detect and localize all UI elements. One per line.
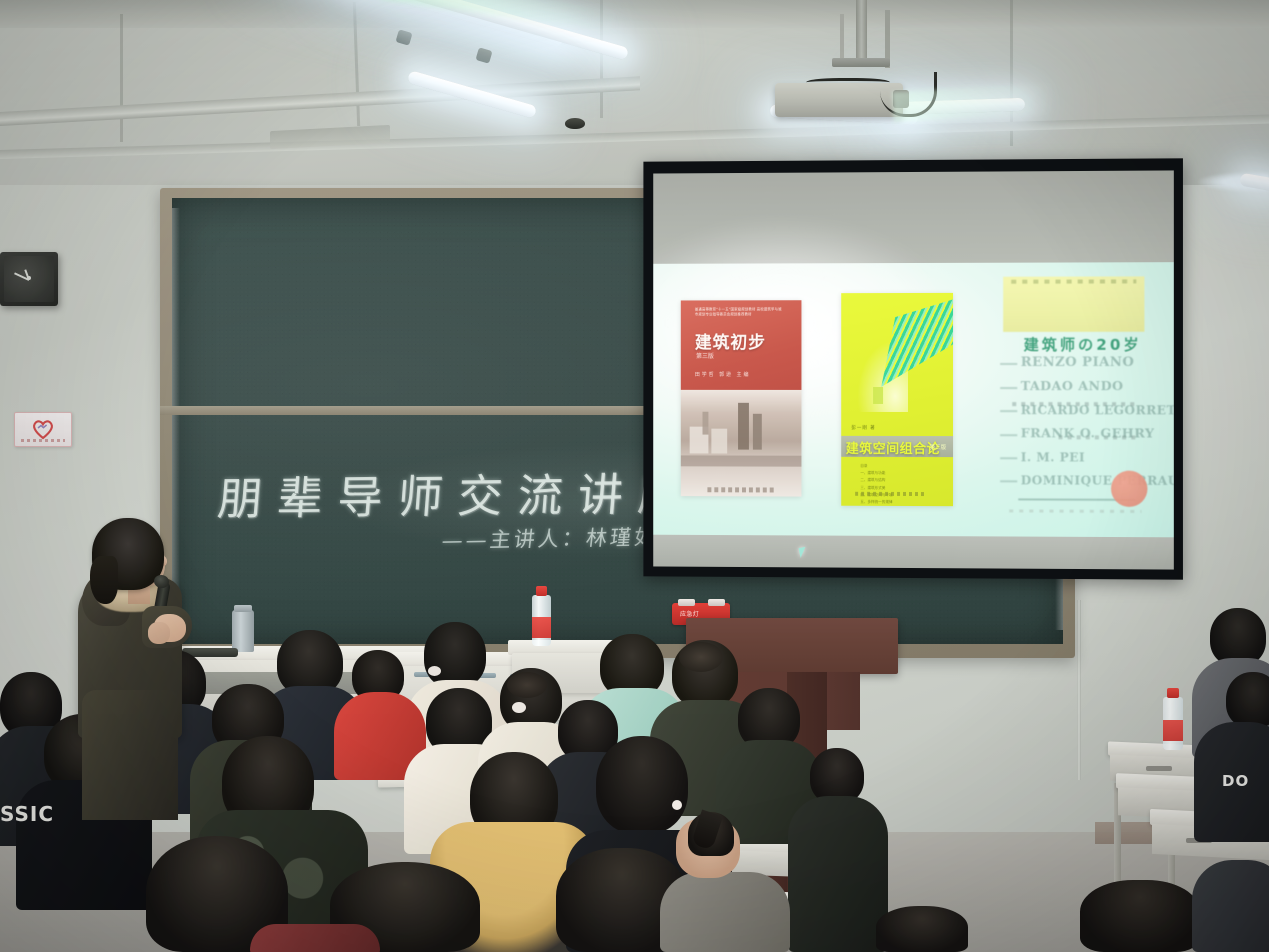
ceiling-sensor [565, 118, 585, 129]
projection-screen: 普通高等教育“十一五”国家级规划教材 高校建筑学与城市规划专业指导委员会规划推荐… [643, 158, 1183, 579]
hair-tie [672, 800, 682, 810]
book-3-name-dash [1000, 410, 1017, 412]
photo-tower [753, 414, 761, 450]
ceiling [0, 0, 1269, 28]
desktop-taskbar[interactable] [653, 535, 1174, 570]
book-3-topline [1012, 279, 1136, 283]
book-3-header-panel [1003, 276, 1144, 332]
red-box-tab [708, 599, 725, 606]
blackboard-edge-highlight [172, 208, 180, 630]
book-3-architect-name: FRANK O. GEHRY [1021, 428, 1142, 441]
jacket-text: SSIC [0, 802, 54, 826]
projector-mount-plate [832, 58, 890, 67]
book-3-name-dash [1000, 481, 1017, 483]
book-1-header-panel: 普通高等教育“十一五”国家级规划教材 高校建筑学与城市规划专业指导委员会规划推荐… [680, 300, 801, 390]
book-3-name-dash [1000, 434, 1017, 436]
presentation-slide: 普通高等教育“十一五”国家级规划教材 高校建筑学与城市规划专业指导委员会规划推荐… [653, 262, 1174, 537]
bottle-cap [1167, 688, 1178, 698]
book-2-contents: 目录一、建筑与功能二、建筑与结构三、建筑形式美四、建筑空间与环境五、多样统一的规… [860, 462, 934, 506]
thermos-lid [234, 605, 252, 612]
book-2-author: 彭一刚 著 [851, 425, 875, 431]
wall-clock [0, 252, 58, 306]
book-1-cover-photo [680, 390, 801, 496]
photo-building [702, 411, 708, 434]
hair-tie [512, 702, 526, 713]
thermos-cup [232, 610, 254, 652]
book-3-architect-name: RENZO PIANO [1021, 356, 1142, 369]
book-1-title: 建筑初步 [695, 328, 766, 353]
book-1-series-note: 普通高等教育“十一五”国家级规划教材 高校建筑学与城市规划专业指导委员会规划推荐… [695, 307, 785, 318]
book-2-vanishing-square [873, 387, 883, 404]
red-box-label: 应急灯 [680, 609, 699, 618]
book-2-contents-line: 五、多样统一的规律 [860, 499, 934, 506]
clock-face [4, 256, 54, 302]
lecture-hall-photo: 朋辈导师交流讲座 ——主讲人：林瑾如 普通高等教育“十一五”国家级规划教材 高校… [0, 0, 1269, 952]
book-2-edition: 第三版 [930, 443, 947, 451]
book-3-name-dash [1000, 363, 1017, 365]
audience-head [1226, 672, 1269, 728]
audience-head [1080, 880, 1200, 952]
book-3-architect-name: I. M. PEI [1021, 451, 1142, 464]
bottle-label [1163, 720, 1183, 741]
blackboard-title: 朋辈导师交流讲座 [215, 457, 700, 527]
blackboard-subtitle: ——主讲人：林瑾如 [440, 521, 660, 555]
poster-caption [21, 439, 65, 442]
audience-head [876, 906, 968, 952]
book-3-architect-name: TADAO ANDO [1021, 380, 1142, 393]
hair-tie [428, 666, 441, 676]
book-1-authors: 田学哲 郭逊 主编 [695, 371, 751, 378]
book-1-edition: 第三版 [696, 351, 714, 360]
clock-center [27, 276, 31, 280]
book-cover-1: 普通高等教育“十一五”国家级规划教材 高校建筑学与城市规划专业指导委员会规划推荐… [680, 300, 801, 496]
audience-body [788, 796, 888, 952]
wall-conduit [1077, 600, 1081, 780]
projection-screen-surface: 普通高等教育“十一五”国家级规划教材 高校建筑学与城市规划专业指导委员会规划推荐… [653, 170, 1174, 569]
audience-body [1192, 860, 1269, 952]
projector-cable [806, 78, 890, 89]
book-cover-2: 彭一刚 著 建筑空间组合论 第三版 目录一、建筑与功能二、建筑与结构三、建筑形式… [841, 293, 953, 506]
audience-body [250, 924, 380, 952]
book-2-contents-line: 二、建筑与结构 [860, 477, 934, 485]
audience-body [660, 872, 790, 952]
book-3-name-dash [1000, 457, 1017, 459]
audience-head [596, 736, 688, 834]
book-1-publisher [707, 488, 775, 493]
bottle-label [532, 617, 551, 637]
student-desk-slot [1146, 766, 1172, 771]
bottle-cap [536, 586, 547, 596]
book-3-title: 建筑师の20岁 [1024, 334, 1142, 355]
heart-icon [31, 418, 55, 440]
book-3-name-dash [1000, 387, 1017, 389]
speaker-coat-lower [82, 690, 178, 820]
speaker-hand [148, 622, 170, 644]
hair-bun [507, 672, 547, 698]
projector-mount-pole [856, 0, 867, 62]
heart-hand-poster [14, 412, 72, 447]
photo-ground [680, 456, 801, 467]
book-3-architect-name: RICARDO LEGORRETA [1021, 404, 1142, 416]
projector-mount-rod [840, 14, 844, 60]
water-bottle-on-student-desk [1163, 688, 1183, 750]
wall-seam [120, 14, 123, 142]
book-2-title: 建筑空间组合论 [846, 438, 940, 457]
hair-bun [679, 642, 723, 672]
photo-building [712, 428, 728, 453]
slide-decoration-dot [1111, 471, 1147, 507]
photo-tower [738, 403, 749, 450]
red-box-tab [678, 599, 695, 606]
book-2-publisher [855, 491, 924, 495]
jacket-text: DO [1222, 772, 1249, 790]
book-3-footer [1009, 510, 1141, 514]
water-bottle-on-teacher-desk [532, 586, 551, 646]
speaker-hair-side [90, 556, 118, 604]
audience-head [424, 622, 486, 688]
